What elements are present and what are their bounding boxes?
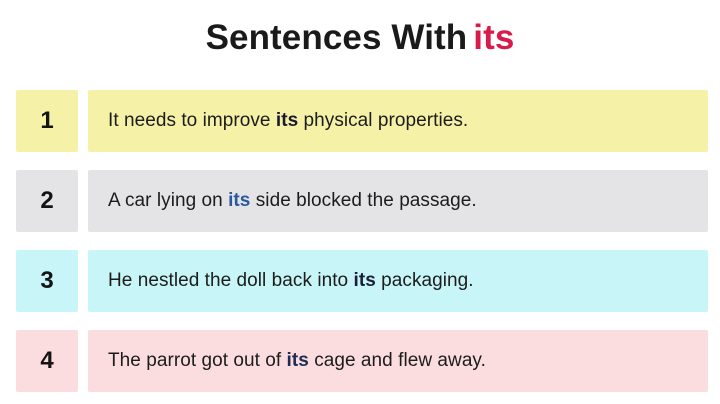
sentence-row: 4The parrot got out of its cage and flew… — [16, 330, 708, 392]
sentence-keyword: its — [287, 350, 309, 371]
row-number-badge: 4 — [16, 330, 78, 392]
sentence-text: It needs to improve its physical propert… — [108, 110, 468, 132]
row-number-badge: 3 — [16, 250, 78, 312]
sentence-keyword: its — [354, 270, 376, 291]
sentence-text: A car lying on its side blocked the pass… — [108, 190, 477, 212]
sentence-panel: It needs to improve its physical propert… — [88, 90, 708, 152]
sentence-text-after: cage and flew away. — [309, 350, 486, 371]
sentence-text-before: A car lying on — [108, 190, 228, 211]
page-title-main: Sentences With — [206, 18, 468, 57]
sentence-keyword: its — [228, 190, 250, 211]
sentence-text-before: He nestled the doll back into — [108, 270, 354, 291]
sentence-keyword: its — [276, 110, 298, 131]
row-spacer — [78, 250, 88, 312]
row-spacer — [78, 170, 88, 232]
sentence-text: He nestled the doll back into its packag… — [108, 270, 474, 292]
sentence-row: 1It needs to improve its physical proper… — [16, 90, 708, 152]
row-number-label: 3 — [40, 267, 53, 295]
sentence-panel: The parrot got out of its cage and flew … — [88, 330, 708, 392]
sentence-text-before: It needs to improve — [108, 110, 276, 131]
sentence-list: 1It needs to improve its physical proper… — [16, 90, 708, 392]
row-spacer — [78, 90, 88, 152]
row-number-badge: 2 — [16, 170, 78, 232]
sentence-row: 3He nestled the doll back into its packa… — [16, 250, 708, 312]
sentence-text-before: The parrot got out of — [108, 350, 287, 371]
row-number-label: 1 — [40, 107, 53, 135]
sentence-row: 2A car lying on its side blocked the pas… — [16, 170, 708, 232]
sentence-text: The parrot got out of its cage and flew … — [108, 350, 486, 372]
sentence-text-after: packaging. — [376, 270, 474, 291]
sentence-text-after: side blocked the passage. — [250, 190, 476, 211]
row-number-badge: 1 — [16, 90, 78, 152]
page-title: Sentences Withits — [0, 14, 720, 62]
worksheet-canvas: Sentences Withits 1It needs to improve i… — [0, 0, 720, 404]
row-spacer — [78, 330, 88, 392]
page-title-keyword: its — [473, 18, 514, 57]
sentence-panel: He nestled the doll back into its packag… — [88, 250, 708, 312]
row-number-label: 2 — [40, 187, 53, 215]
sentence-panel: A car lying on its side blocked the pass… — [88, 170, 708, 232]
sentence-text-after: physical properties. — [298, 110, 468, 131]
row-number-label: 4 — [40, 347, 53, 375]
